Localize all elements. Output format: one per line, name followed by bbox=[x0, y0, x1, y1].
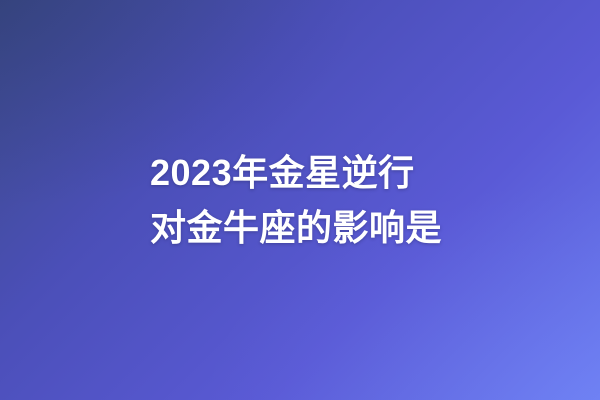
title-line-1: 2023年金星逆行 bbox=[150, 145, 600, 200]
title-card: 2023年金星逆行 对金牛座的影响是 bbox=[0, 0, 600, 400]
page-title: 2023年金星逆行 对金牛座的影响是 bbox=[0, 145, 600, 255]
title-line-2: 对金牛座的影响是 bbox=[150, 200, 600, 255]
